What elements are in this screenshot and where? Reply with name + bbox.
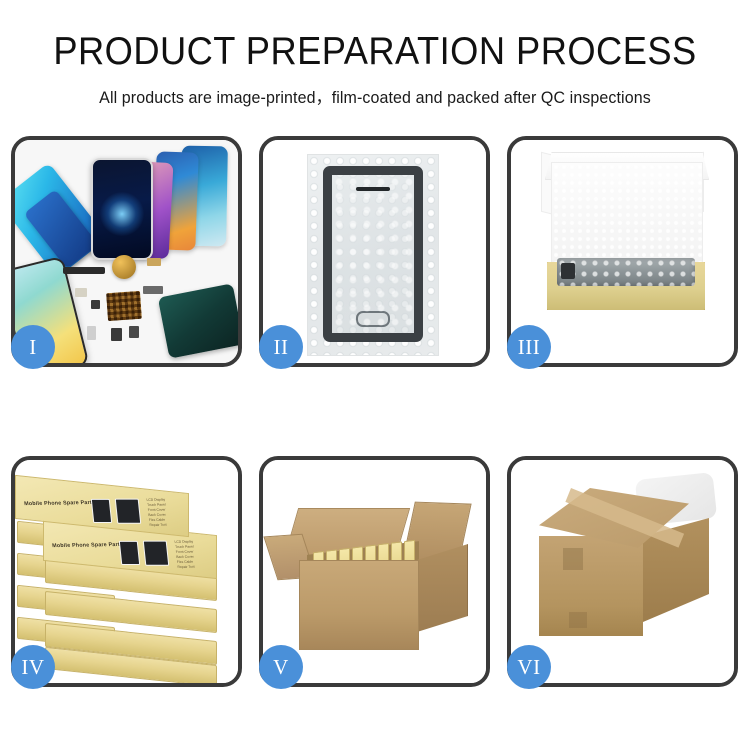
- step-image-1: [15, 140, 238, 363]
- phone-glass-icon: [91, 158, 153, 260]
- step-image-2: [263, 140, 486, 363]
- logic-board-icon: [158, 283, 238, 358]
- carton-tab: [563, 548, 583, 570]
- flex-cable-icon: [63, 267, 105, 274]
- carton-front-panel: [539, 536, 643, 636]
- page-title: PRODUCT PREPARATION PROCESS: [26, 32, 724, 73]
- small-chip-icon: [129, 326, 139, 338]
- box-spec-list: LCD Display Touch Panel Front Cover Back…: [146, 498, 168, 528]
- phone-collage-art: [15, 140, 238, 363]
- step-badge-5: V: [259, 645, 303, 689]
- small-chip-icon: [111, 328, 122, 341]
- step-badge-6: VI: [507, 645, 551, 689]
- box-screen-image: [115, 499, 141, 524]
- carton-front-panel: [299, 560, 419, 650]
- step-badge-3: III: [507, 325, 551, 369]
- step-panel-2: II: [259, 136, 490, 367]
- steps-grid: I II: [11, 136, 739, 687]
- small-chip-icon: [75, 288, 87, 297]
- product-preparation-infographic: PRODUCT PREPARATION PROCESS All products…: [0, 0, 750, 750]
- sealed-carton-art: [511, 460, 734, 683]
- step-panel-6: VI: [507, 456, 738, 687]
- earpiece-icon: [356, 187, 390, 191]
- page-subtitle: All products are image-printed，film-coat…: [11, 84, 739, 108]
- step-image-5: [263, 460, 486, 683]
- step-badge-2: II: [259, 325, 303, 369]
- connector-grid-icon: [106, 291, 142, 321]
- box-screen-image: [119, 541, 140, 565]
- step-panel-1: I: [11, 136, 242, 367]
- small-chip-icon: [147, 258, 161, 266]
- box-stack-art: Mobile Phone Spare Parts LCD Display Tou…: [15, 460, 238, 683]
- bubble-overlay: [332, 175, 414, 333]
- speaker-part-icon: [112, 255, 136, 279]
- step-badge-1: I: [11, 325, 55, 369]
- step-panel-3: III: [507, 136, 738, 367]
- box-screen-image: [91, 499, 112, 523]
- header: PRODUCT PREPARATION PROCESS All products…: [0, 0, 750, 108]
- step-panel-4: Mobile Phone Spare Parts LCD Display Tou…: [11, 456, 242, 687]
- small-chip-icon: [91, 300, 100, 309]
- small-chip-icon: [87, 326, 96, 340]
- home-button-icon: [356, 311, 390, 327]
- carton-filling-art: [263, 460, 486, 683]
- carton-tab: [569, 612, 587, 628]
- phone-screen-icon: [323, 166, 423, 342]
- step-panel-5: V: [259, 456, 490, 687]
- box-spec-list: LCD Display Touch Panel Front Cover Back…: [174, 540, 196, 570]
- box-screen-image: [143, 541, 169, 566]
- bubble-wrapped-screen-art: [263, 140, 486, 363]
- small-chip-icon: [143, 286, 163, 294]
- inner-box-art: [511, 140, 734, 363]
- box-label-text: Mobile Phone Spare Parts: [52, 542, 124, 549]
- step-image-6: [511, 460, 734, 683]
- step-badge-4: IV: [11, 645, 55, 689]
- step-image-3: [511, 140, 734, 363]
- step-image-4: Mobile Phone Spare Parts LCD Display Tou…: [15, 460, 238, 683]
- packed-screen-icon: [557, 258, 695, 286]
- box-label-text: Mobile Phone Spare Parts: [24, 500, 96, 507]
